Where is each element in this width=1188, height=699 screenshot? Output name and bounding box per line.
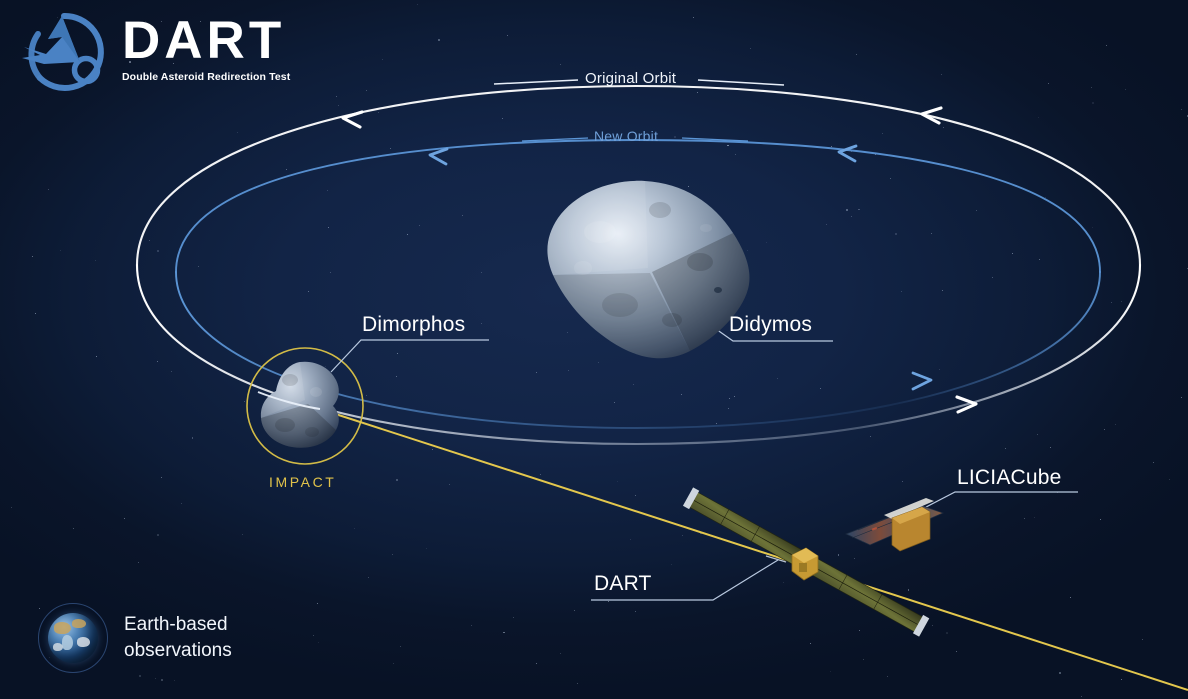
earth-observations-block: Earth-based observations [38,603,232,673]
dart-wordmark: DART [122,12,302,70]
dart-logo-text: DART Double Asteroid Redirection Test [122,12,302,83]
earth-observations-label: Earth-based observations [124,612,232,664]
original-orbit-arrow-left [343,112,362,127]
label-impact: IMPACT [269,474,336,490]
new-orbit-arrow-right [839,146,856,161]
earth-label-line1: Earth-based [124,612,232,638]
dart-mission-diagram: DART Double Asteroid Redirection Test Or… [0,0,1188,699]
label-dart: DART [594,572,652,596]
label-new-orbit: New Orbit [594,128,658,144]
label-original-orbit: Original Orbit [585,70,676,87]
label-dimorphos: Dimorphos [362,313,465,337]
dart-logo: DART Double Asteroid Redirection Test [18,8,303,100]
new-orbit-arrow-left [430,149,447,164]
dart-spacecraft [683,487,929,636]
dart-swoosh-logo-icon [18,10,118,96]
earth-icon [38,603,108,673]
leader-dimorphos [331,340,489,372]
new-orbit-arrow-bottom [913,373,931,389]
earth-globe [48,613,98,663]
label-didymos: Didymos [729,313,812,337]
dart-logo-subtitle: Double Asteroid Redirection Test [122,71,302,83]
leader-lines [331,322,1078,600]
label-liciacube: LICIACube [957,466,1062,490]
dart-trajectory-line [320,409,1188,690]
earth-label-line2: observations [124,638,232,664]
